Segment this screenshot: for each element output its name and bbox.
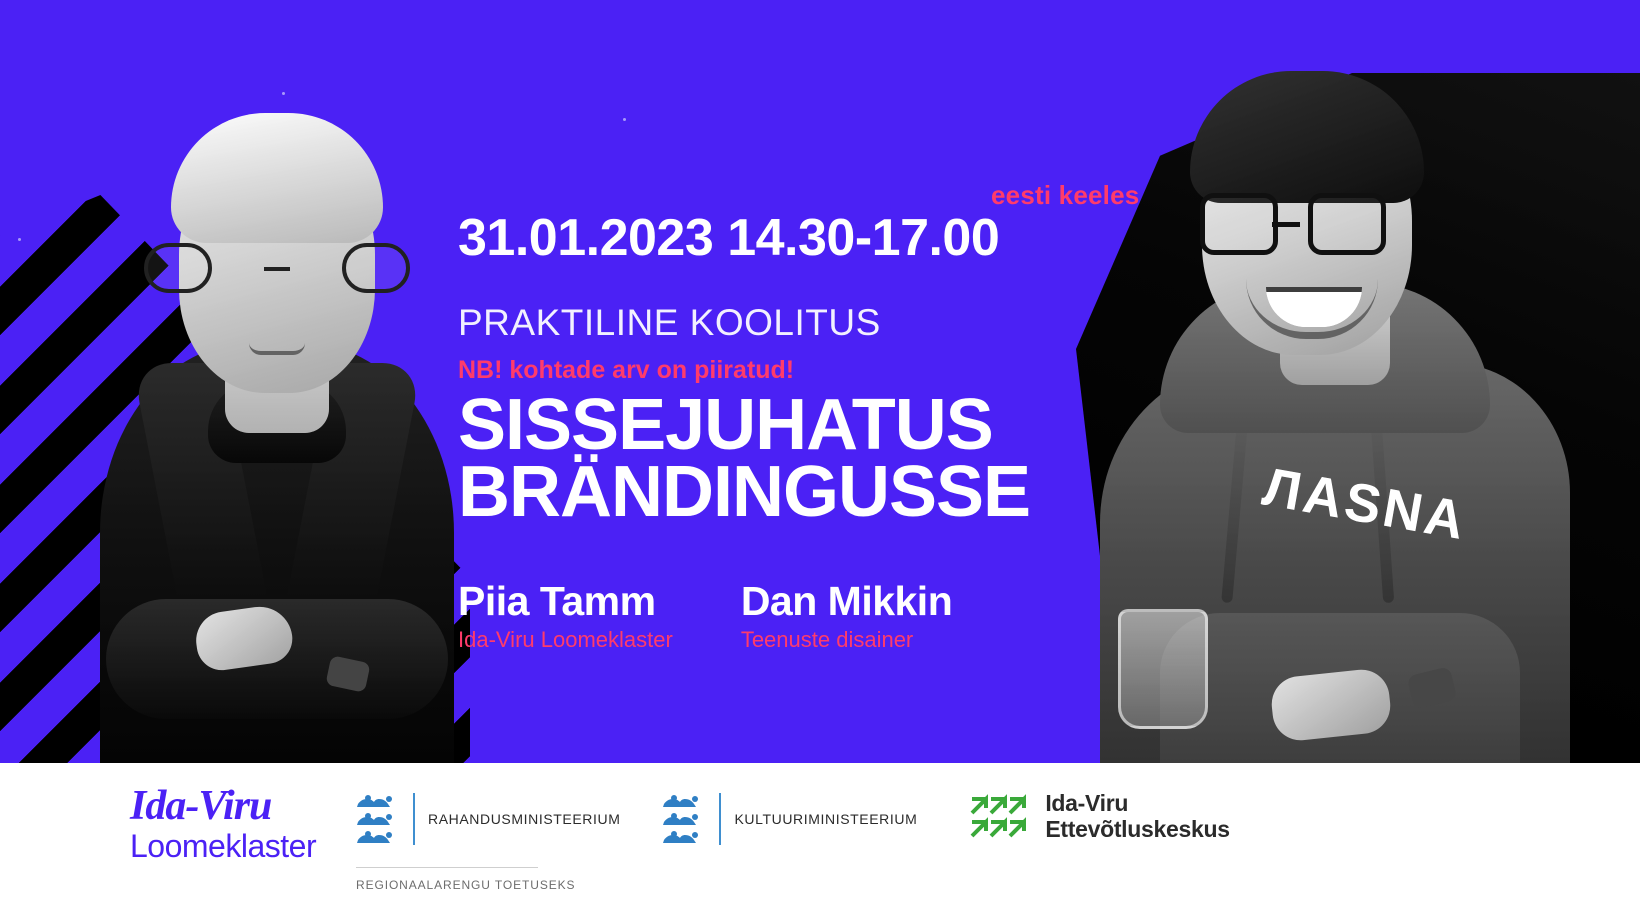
speaker-name: Dan Mikkin <box>741 580 952 623</box>
promo-banner: ЛASNA eesti keeles 31.01.2023 14.30-17.0… <box>0 0 1640 924</box>
speaker-item: Dan Mikkin Teenuste disainer <box>741 580 952 656</box>
logo-ministry-subtitle: REGIONAALARENGU TOETUSEKS <box>356 878 620 892</box>
footer-logo-bar: Ida-Viru Loomeklaster <box>0 763 1640 924</box>
logo-ida-viru-loomeklaster: Ida-Viru Loomeklaster <box>130 763 330 864</box>
hero-text-block: eesti keeles 31.01.2023 14.30-17.00 PRAK… <box>458 0 1178 763</box>
logo-loomeklaster-line-2: Loomeklaster <box>130 829 330 864</box>
logo-loomeklaster-line-1: Ida-Viru <box>130 785 330 827</box>
logo-ministry-name: Rahandusministeerium <box>428 811 620 827</box>
logo-kultuuriministeerium: Kultuuriministeerium <box>662 763 917 845</box>
language-badge: eesti keeles <box>991 180 1139 211</box>
event-note: NB! kohtade arv on piiratud! <box>458 356 794 385</box>
speaker-role: Teenuste disainer <box>741 623 952 656</box>
event-title-line-1: SISSEJUHATUS <box>458 392 1030 459</box>
speck-dot <box>282 92 285 95</box>
event-kind: PRAKTILINE KOOLITUS <box>458 302 881 344</box>
hero-section: ЛASNA eesti keeles 31.01.2023 14.30-17.0… <box>0 0 1640 763</box>
speaker-role: Ida-Viru Loomeklaster <box>458 623 673 656</box>
speaker-list: Piia Tamm Ida-Viru Loomeklaster Dan Mikk… <box>458 580 952 656</box>
speaker-item: Piia Tamm Ida-Viru Loomeklaster <box>458 580 673 656</box>
speaker-name: Piia Tamm <box>458 580 673 623</box>
green-arrows-icon <box>969 794 1031 840</box>
event-datetime: 31.01.2023 14.30-17.00 <box>458 208 999 268</box>
logo-divider <box>719 793 721 845</box>
event-title-line-2: BRÄNDINGUSSE <box>458 459 1030 526</box>
estonia-coat-of-arms-icon <box>662 793 706 845</box>
event-title: SISSEJUHATUS BRÄNDINGUSSE <box>458 392 1030 526</box>
logo-rahandusministeerium: Rahandusministeerium REGIONAALARENGU TOE… <box>356 763 620 892</box>
logo-ivek-text: Ida-Viru Ettevõtluskeskus <box>1045 791 1229 843</box>
logo-ivek-line-2: Ettevõtluskeskus <box>1045 817 1229 843</box>
logo-rule <box>356 867 538 868</box>
speck-dot <box>18 238 21 241</box>
sponsor-logo-row: Ida-Viru Loomeklaster <box>130 763 1230 892</box>
logo-divider <box>413 793 415 845</box>
logo-ivek-line-1: Ida-Viru <box>1045 791 1229 817</box>
logo-ida-viru-ettevotluskeskus: Ida-Viru Ettevõtluskeskus <box>969 763 1229 843</box>
estonia-coat-of-arms-icon <box>356 793 400 845</box>
logo-ministry-name: Kultuuriministeerium <box>734 811 917 827</box>
speaker-photo-left <box>92 108 462 763</box>
